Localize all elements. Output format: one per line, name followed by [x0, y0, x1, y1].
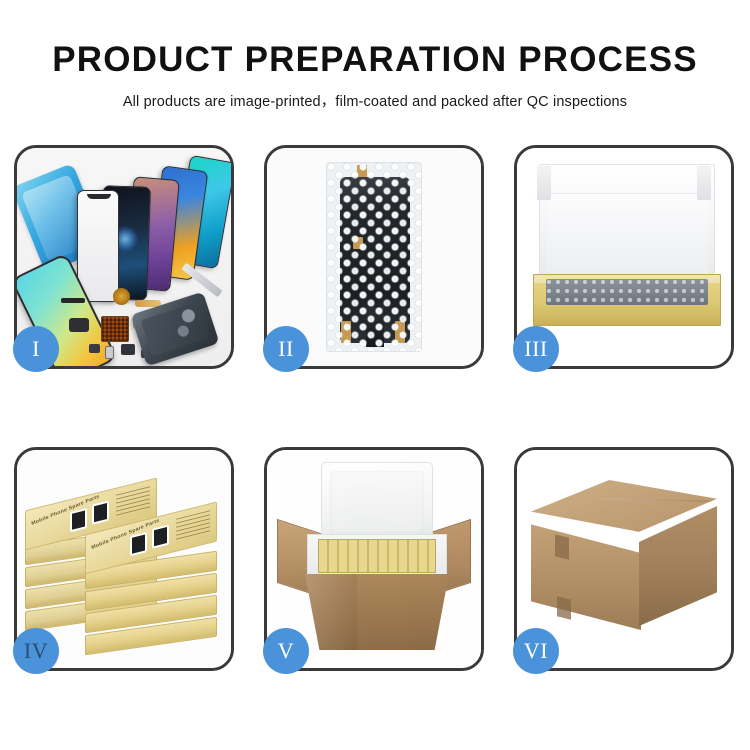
- box-stack: Mobile Phone Spare Parts Mobile Phone Sp…: [25, 472, 229, 654]
- product-preparation-infographic: PRODUCT PREPARATION PROCESS All products…: [0, 0, 750, 750]
- inner-box-bubble-fill: [546, 279, 708, 305]
- small-part-2: [105, 346, 114, 359]
- carton-front-face: [531, 520, 641, 630]
- inner-box-base: [533, 274, 721, 326]
- header: PRODUCT PREPARATION PROCESS All products…: [0, 0, 750, 111]
- box-spec-lines-back: [116, 486, 150, 518]
- phone-glass-panel: [77, 190, 119, 302]
- step-badge-2: II: [263, 326, 309, 372]
- step-badge-3: III: [513, 326, 559, 372]
- page-title: PRODUCT PREPARATION PROCESS: [0, 42, 750, 79]
- step-panel-1: I: [14, 145, 234, 369]
- box-label-back: Mobile Phone Spare Parts: [31, 494, 100, 527]
- step-panel-5: V: [264, 447, 484, 671]
- small-part-3: [121, 344, 135, 355]
- flex-cable-part-3: [69, 318, 89, 332]
- inner-box-flap-right: [697, 166, 711, 200]
- box-window-front-1: [130, 532, 147, 556]
- carton-body: [305, 574, 449, 650]
- screw-grid-part: [101, 316, 129, 342]
- inner-box-flap-left: [537, 166, 551, 200]
- box-window-front-2: [152, 525, 169, 549]
- step-badge-4: IV: [13, 628, 59, 674]
- carton-tape-upper: [555, 534, 569, 559]
- step-badge-5: V: [263, 628, 309, 674]
- step-badge-1: I: [13, 326, 59, 372]
- page-subtitle: All products are image-printed，film-coat…: [0, 90, 750, 111]
- packed-boxes-row: [318, 539, 436, 573]
- inner-box-lid: [539, 164, 715, 276]
- speaker-coil-part: [113, 288, 130, 305]
- bubble-texture: [327, 163, 421, 351]
- process-step-grid: I II: [14, 145, 736, 695]
- step-panel-3: III: [514, 145, 734, 369]
- box-spec-lines-front: [176, 510, 210, 542]
- step-badge-6: VI: [513, 628, 559, 674]
- phone-fan-group: [75, 156, 231, 286]
- step-panel-4: Mobile Phone Spare Parts Mobile Phone Sp…: [14, 447, 234, 671]
- antenna-bar-part: [61, 298, 85, 303]
- sealed-carton: [531, 480, 717, 632]
- foam-box-lid: [321, 462, 433, 542]
- step-panel-2: II: [264, 145, 484, 369]
- step-panel-6: VI: [514, 447, 734, 671]
- foam-box-tray: [307, 534, 447, 578]
- small-part-1: [89, 344, 100, 353]
- box-window-back-2: [92, 501, 109, 525]
- bubble-wrap-bag: [326, 162, 422, 352]
- box-window-back-1: [70, 508, 87, 532]
- carton-tape-lower: [557, 596, 571, 619]
